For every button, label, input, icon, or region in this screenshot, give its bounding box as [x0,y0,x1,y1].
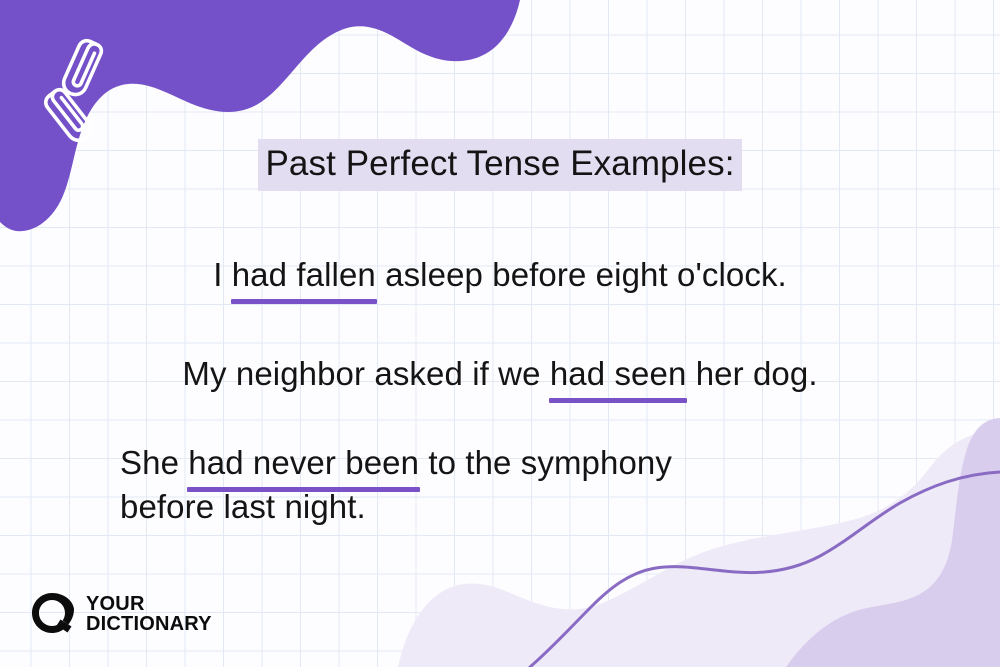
yourdictionary-q-mark [32,593,74,635]
example-3-before: She [120,444,188,481]
example-1-highlight: had fallen [232,253,376,297]
example-3-line-1: She had never been to the symphony [120,441,880,485]
content-layer: Past Perfect Tense Examples: I had falle… [0,0,1000,667]
example-1-after: asleep before eight o'clock. [376,256,787,293]
example-2-after: her dog. [686,355,817,392]
example-2-before: My neighbor asked if we [182,355,549,392]
example-sentence-3: She had never been to the symphony befor… [0,441,1000,529]
title-container: Past Perfect Tense Examples: [0,139,1000,191]
example-3-highlight: had never been [188,441,419,485]
logo-line-your: YOUR [86,594,212,614]
example-sentence-1: I had fallen asleep before eight o'clock… [0,253,1000,297]
example-sentence-2: My neighbor asked if we had seen her dog… [0,352,1000,396]
page-title: Past Perfect Tense Examples: [258,139,741,191]
logo-line-dictionary: DICTIONARY [86,614,212,635]
example-3-after: to the symphony [419,444,672,481]
infographic-card: Past Perfect Tense Examples: I had falle… [0,0,1000,667]
example-2-highlight: had seen [550,352,687,396]
logo-wordmark: YOUR DICTIONARY [86,594,212,635]
yourdictionary-logo[interactable]: YOUR DICTIONARY [32,593,212,635]
example-1-before: I [213,256,232,293]
